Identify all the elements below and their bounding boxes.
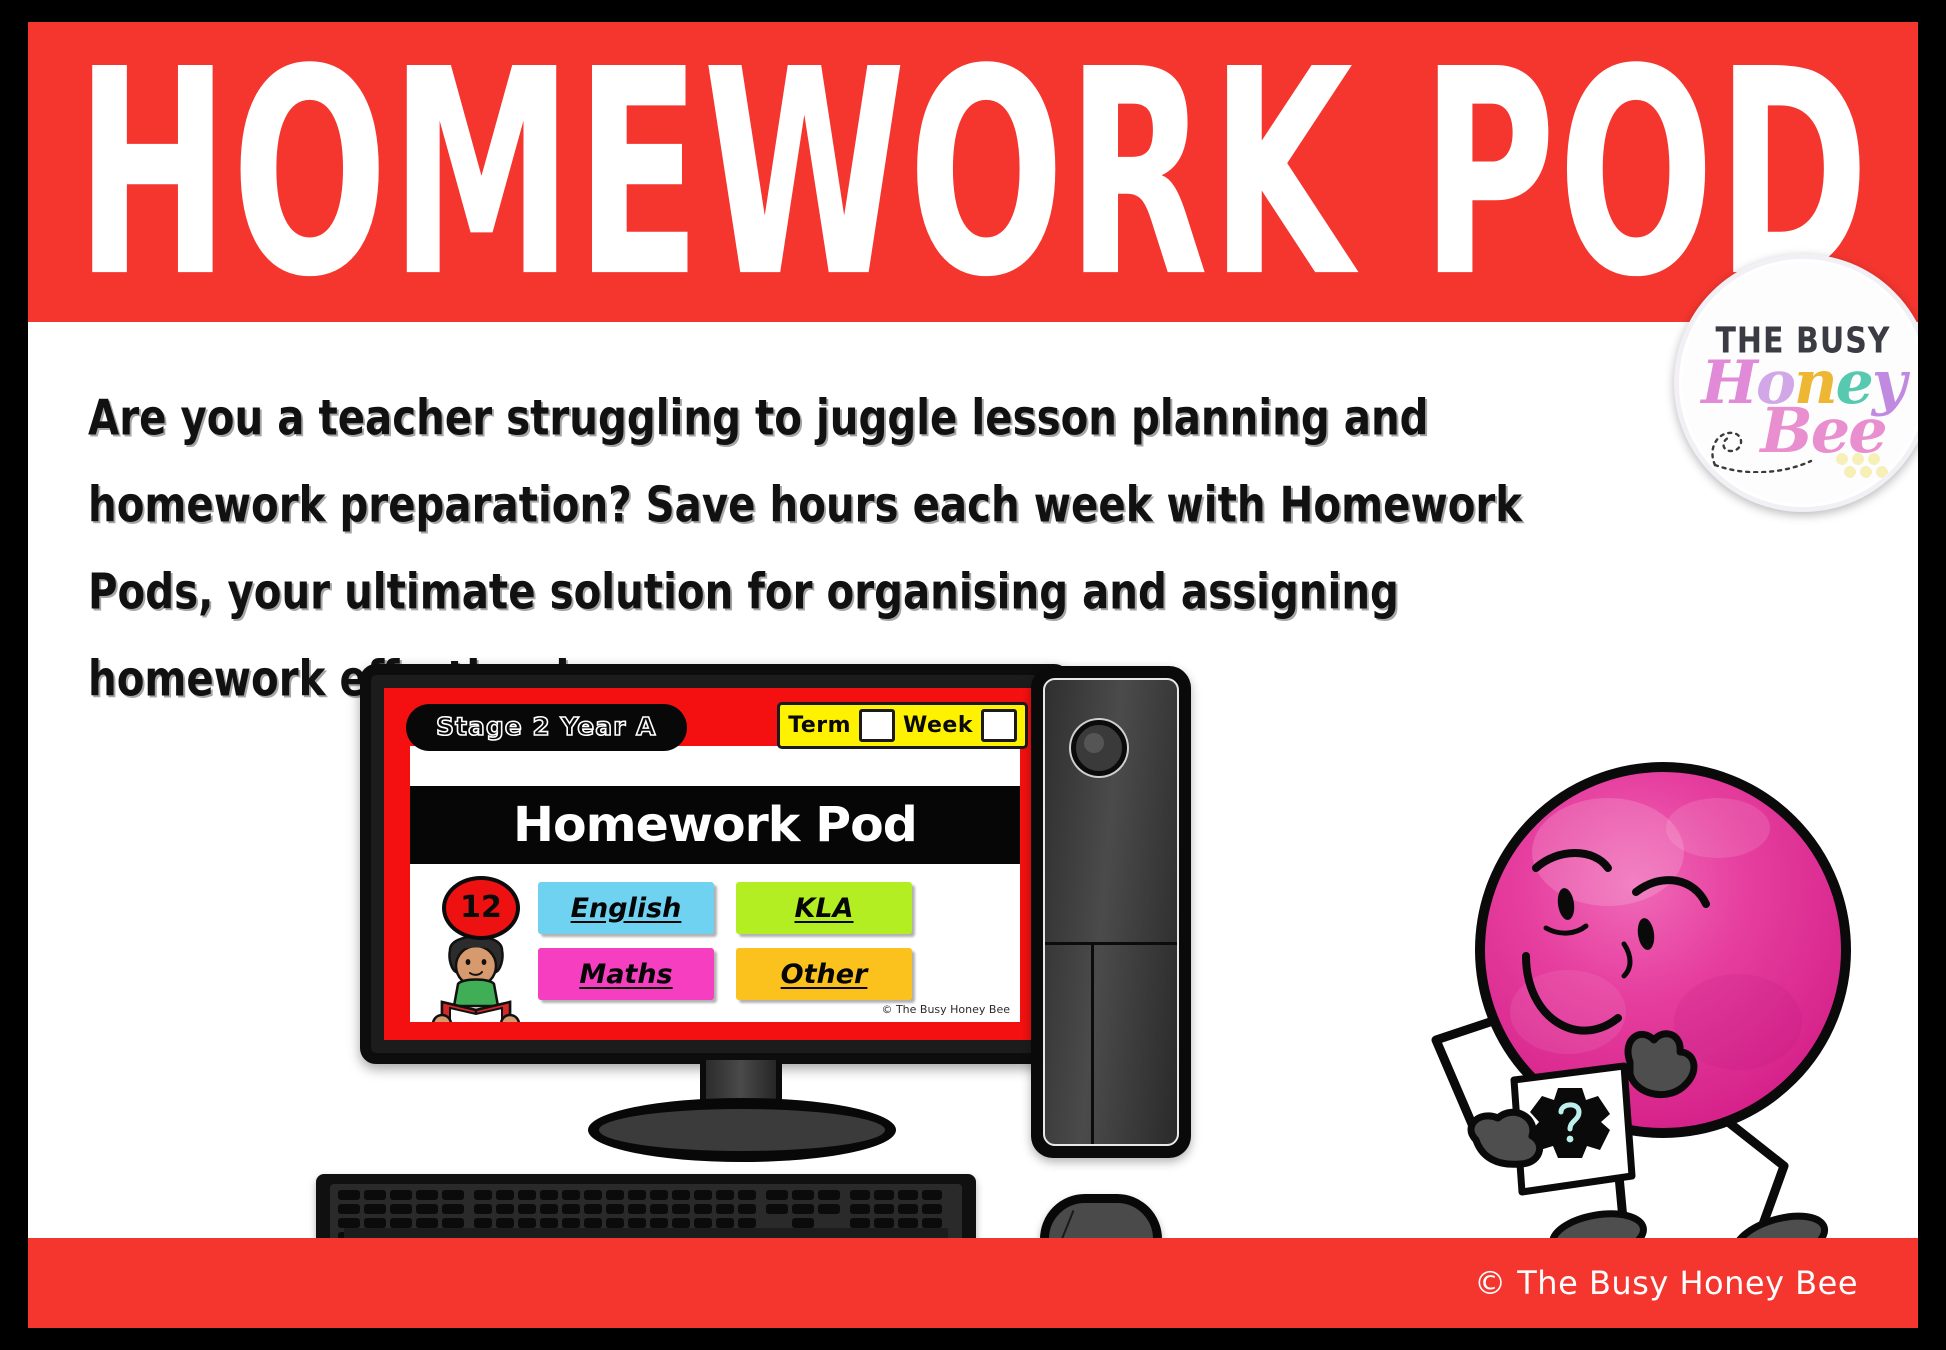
footer-bar: © The Busy Honey Bee	[28, 1238, 1918, 1328]
subject-button-english-label: English	[571, 893, 682, 924]
tower-panel-seam	[1091, 942, 1094, 1144]
term-week-field[interactable]: Term Week	[777, 702, 1028, 749]
monitor-screen: Stage 2 Year A Term Week Homework Pod 12	[384, 688, 1046, 1040]
screen-white-strip	[410, 746, 1020, 786]
screen-watermark: © The Busy Honey Bee	[881, 1003, 1010, 1016]
computer-tower	[1031, 666, 1191, 1158]
footer-copyright: © The Busy Honey Bee	[1474, 1264, 1858, 1302]
keyboard-deck	[330, 1184, 962, 1246]
screen-title-text: Homework Pod	[513, 797, 917, 853]
bee-trail-icon	[1707, 403, 1827, 473]
poster-card: HOMEWORK POD Are you a teacher strugglin…	[28, 22, 1918, 1328]
brand-logo: THE BUSY Honey Bee	[1674, 254, 1918, 512]
subject-button-kla[interactable]: KLA	[736, 882, 912, 934]
subject-button-maths-label: Maths	[579, 959, 672, 990]
power-button-icon[interactable]	[1071, 720, 1127, 776]
header-banner: HOMEWORK POD	[28, 22, 1918, 322]
student-count-text: 12	[460, 893, 502, 923]
week-input-box[interactable]	[981, 709, 1017, 742]
stage-label-text: Stage 2 Year A	[436, 712, 657, 741]
student-count-badge: 12	[442, 876, 520, 940]
honeycomb-icon	[1833, 451, 1891, 481]
stage-label-pill: Stage 2 Year A	[406, 704, 687, 751]
screen-title-bar: Homework Pod	[410, 786, 1020, 864]
computer-monitor: Stage 2 Year A Term Week Homework Pod 12	[360, 664, 1070, 1064]
term-input-box[interactable]	[859, 709, 895, 742]
subject-button-english[interactable]: English	[538, 882, 714, 934]
subject-button-kla-label: KLA	[794, 893, 853, 924]
page-title: HOMEWORK POD	[75, 33, 1871, 317]
subject-button-grid: English KLA Maths Other	[538, 882, 912, 1000]
tower-panel-divider	[1045, 942, 1177, 945]
pink-character-mascot	[1418, 722, 1918, 1282]
screen-content: 12	[410, 864, 1020, 1022]
monitor-stand-base	[588, 1098, 896, 1162]
subject-button-maths[interactable]: Maths	[538, 948, 714, 1000]
logo-the-busy-text: THE BUSY	[1715, 320, 1890, 361]
term-label: Term	[788, 713, 851, 738]
tower-front-panel	[1043, 678, 1179, 1146]
student-reading-illustration: 12	[428, 874, 524, 1022]
week-label: Week	[903, 713, 973, 738]
subject-button-other[interactable]: Other	[736, 948, 912, 1000]
subject-button-other-label: Other	[781, 959, 868, 990]
